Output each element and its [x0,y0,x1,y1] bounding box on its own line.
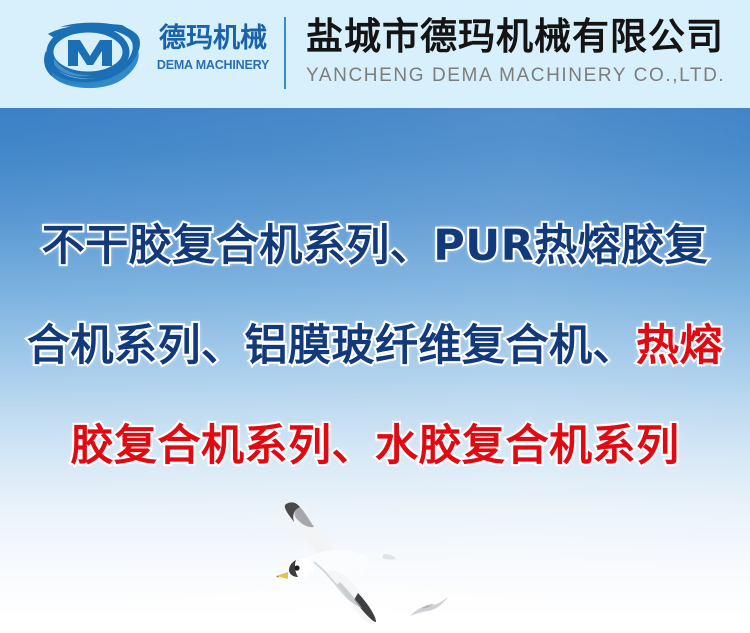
distant-bird-icon [408,594,454,620]
hero-sky-background: 不干胶复合机系列、PUR热熔胶复合机系列、铝膜玻纤维复合机、热熔胶复合机系列、水… [0,108,750,633]
headline-segment-red: 热熔 [636,321,723,371]
headline-segment-red: 胶复合机系列、水胶复合机系列 [71,421,680,471]
headline-segment-navy: 合机系列、铝膜玻纤维复合机、 [27,321,636,371]
brand-wordmark-cn: 德玛机械 [148,23,278,55]
hero-headline: 不干胶复合机系列、PUR热熔胶复合机系列、铝膜玻纤维复合机、热熔胶复合机系列、水… [0,196,750,496]
company-name-cn: 盐城市德玛机械有限公司 [306,14,725,60]
product-banner: 德玛机械 DEMA MACHINERY 盐城市德玛机械有限公司 YANCHENG… [0,0,750,633]
dema-dm-monogram-logo-icon[interactable] [38,20,146,90]
header-content: 德玛机械 DEMA MACHINERY 盐城市德玛机械有限公司 YANCHENG… [0,0,750,108]
headline-line: 胶复合机系列、水胶复合机系列 [0,396,750,496]
headline-segment-navy: 不干胶复合机系列、PUR热熔胶复 [42,221,709,271]
headline-line: 不干胶复合机系列、PUR热熔胶复 [0,196,750,296]
site-header: 德玛机械 DEMA MACHINERY 盐城市德玛机械有限公司 YANCHENG… [0,0,750,108]
company-name-en: YANCHENG DEMA MACHINERY CO.,LTD. [306,63,725,89]
header-divider [284,17,286,89]
brand-wordmark: 德玛机械 DEMA MACHINERY [148,23,278,73]
company-name-block: 盐城市德玛机械有限公司 YANCHENG DEMA MACHINERY CO.,… [306,14,725,89]
headline-line: 合机系列、铝膜玻纤维复合机、热熔 [0,296,750,396]
brand-wordmark-en: DEMA MACHINERY [148,57,278,73]
